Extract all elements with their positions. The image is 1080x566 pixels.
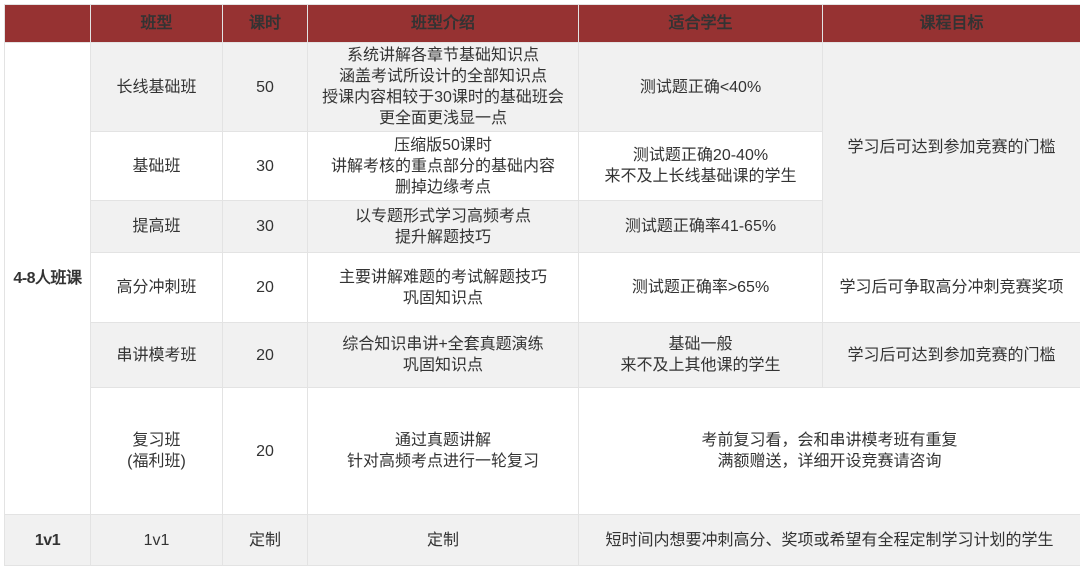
- cell-students-goal-merged: 短时间内想要冲刺高分、奖项或希望有全程定制学习计划的学生: [579, 515, 1080, 566]
- cell-students: 测试题正确率41-65%: [579, 201, 823, 253]
- cell-hours: 20: [223, 388, 308, 515]
- cell-intro: 主要讲解难题的考试解题技巧 巩固知识点: [308, 253, 579, 323]
- cell-students: 基础一般 来不及上其他课的学生: [579, 323, 823, 388]
- group-label-class-course: 4-8人班课: [5, 43, 91, 515]
- cell-hours: 定制: [223, 515, 308, 566]
- table-row: 1v1 1v1 定制 定制 短时间内想要冲刺高分、奖项或希望有全程定制学习计划的…: [5, 515, 1080, 566]
- cell-goal: 学习后可争取高分冲刺竞赛奖项: [823, 253, 1080, 323]
- table-header: 班型 课时 班型介绍 适合学生 课程目标: [5, 5, 1080, 43]
- header-cell-class-type: 班型: [91, 5, 223, 43]
- cell-students: 测试题正确<40%: [579, 43, 823, 132]
- table-row: 复习班 (福利班) 20 通过真题讲解 针对高频考点进行一轮复习 考前复习看，会…: [5, 388, 1080, 515]
- cell-class-type: 提高班: [91, 201, 223, 253]
- cell-hours: 20: [223, 323, 308, 388]
- table-row: 4-8人班课 长线基础班 50 系统讲解各章节基础知识点 涵盖考试所设计的全部知…: [5, 43, 1080, 132]
- cell-hours: 30: [223, 201, 308, 253]
- cell-intro: 综合知识串讲+全套真题演练 巩固知识点: [308, 323, 579, 388]
- header-cell-group: [5, 5, 91, 43]
- cell-intro: 以专题形式学习高频考点 提升解题技巧: [308, 201, 579, 253]
- cell-class-type: 基础班: [91, 132, 223, 201]
- cell-class-type: 复习班 (福利班): [91, 388, 223, 515]
- group-label-one-on-one: 1v1: [5, 515, 91, 566]
- cell-students: 测试题正确20-40% 来不及上长线基础课的学生: [579, 132, 823, 201]
- cell-hours: 30: [223, 132, 308, 201]
- cell-class-type: 串讲模考班: [91, 323, 223, 388]
- header-cell-hours: 课时: [223, 5, 308, 43]
- cell-class-type: 长线基础班: [91, 43, 223, 132]
- cell-intro: 系统讲解各章节基础知识点 涵盖考试所设计的全部知识点 授课内容相较于30课时的基…: [308, 43, 579, 132]
- cell-goal: 学习后可达到参加竞赛的门槛: [823, 323, 1080, 388]
- cell-intro: 通过真题讲解 针对高频考点进行一轮复习: [308, 388, 579, 515]
- header-cell-students: 适合学生: [579, 5, 823, 43]
- header-cell-intro: 班型介绍: [308, 5, 579, 43]
- table-row: 串讲模考班 20 综合知识串讲+全套真题演练 巩固知识点 基础一般 来不及上其他…: [5, 323, 1080, 388]
- cell-students-goal-merged: 考前复习看，会和串讲模考班有重复 满额赠送，详细开设竞赛请咨询: [579, 388, 1080, 515]
- table-body: 4-8人班课 长线基础班 50 系统讲解各章节基础知识点 涵盖考试所设计的全部知…: [5, 43, 1080, 566]
- cell-goal-merged: 学习后可达到参加竞赛的门槛: [823, 43, 1080, 253]
- header-row: 班型 课时 班型介绍 适合学生 课程目标: [5, 5, 1080, 43]
- header-cell-goal: 课程目标: [823, 5, 1080, 43]
- cell-intro: 定制: [308, 515, 579, 566]
- cell-class-type: 1v1: [91, 515, 223, 566]
- cell-hours: 50: [223, 43, 308, 132]
- cell-hours: 20: [223, 253, 308, 323]
- cell-intro: 压缩版50课时 讲解考核的重点部分的基础内容 删掉边缘考点: [308, 132, 579, 201]
- table-row: 高分冲刺班 20 主要讲解难题的考试解题技巧 巩固知识点 测试题正确率>65% …: [5, 253, 1080, 323]
- course-comparison-table: 班型 课时 班型介绍 适合学生 课程目标 4-8人班课 长线基础班 50 系统讲…: [4, 4, 1080, 566]
- cell-class-type: 高分冲刺班: [91, 253, 223, 323]
- course-table-container: 班型 课时 班型介绍 适合学生 课程目标 4-8人班课 长线基础班 50 系统讲…: [4, 4, 1080, 545]
- cell-students: 测试题正确率>65%: [579, 253, 823, 323]
